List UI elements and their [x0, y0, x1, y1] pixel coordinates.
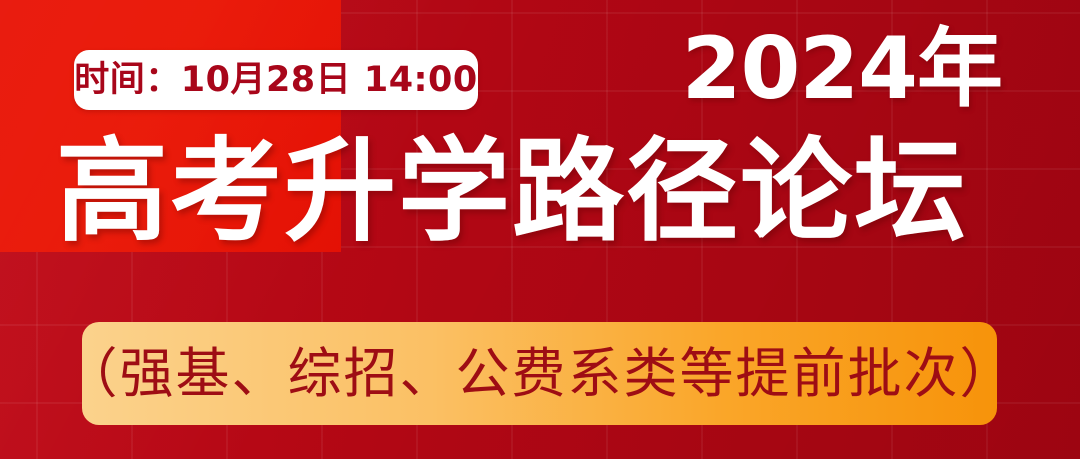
event-poster: 时间：10月28日 14:00 2024年 高考升学路径论坛 （强基、综招、公费…: [0, 0, 1080, 459]
event-time-label: 时间：10月28日 14:00: [74, 63, 478, 98]
page-title: 高考升学路径论坛: [56, 136, 1024, 248]
subtitle-banner: （强基、综招、公费系类等提前批次）: [82, 322, 997, 425]
event-year-heading: 2024年: [682, 26, 1002, 112]
poster-content: 时间：10月28日 14:00 2024年 高考升学路径论坛 （强基、综招、公费…: [0, 0, 1080, 459]
event-time-badge: 时间：10月28日 14:00: [74, 50, 478, 110]
subtitle-label: （强基、综招、公费系类等提前批次）: [64, 347, 1016, 401]
